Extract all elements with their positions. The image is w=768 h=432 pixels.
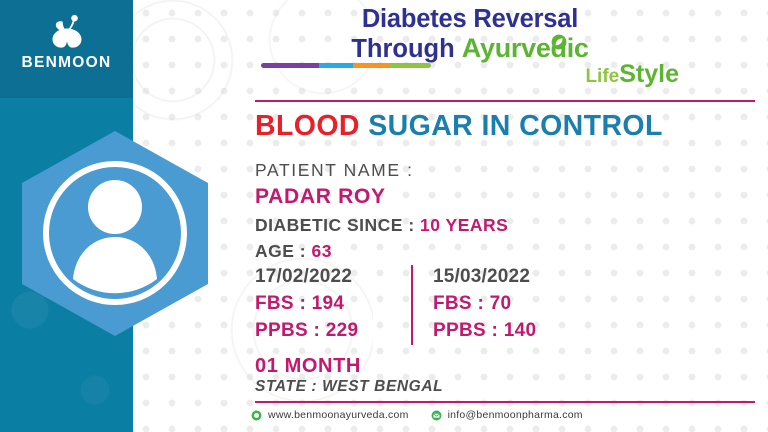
reading-date: 17/02/2022 [255,263,358,291]
reading-fbs: FBS : 70 [433,291,536,318]
reading-fbs: FBS : 194 [255,291,358,318]
divider-bottom [255,401,755,403]
age-value: 63 [311,241,331,261]
reading-ppbs: PPBS : 140 [433,318,536,345]
patient-name-value: PADAR ROY [255,183,508,211]
reading-ppbs: PPBS : 229 [255,318,358,345]
brand-lockup: BENMOON [0,14,133,72]
email-text: info@benmoonpharma.com [448,409,583,421]
age-row: AGE : 63 [255,238,508,264]
patient-name-label: PATIENT NAME : [255,158,508,183]
title-line-2: Through Ayurvedic [255,34,685,63]
plant-leaf-logo-icon [46,14,88,50]
diabetic-since-label: DIABETIC SINCE : [255,215,420,235]
promo-card: BENMOON Diabetes Reversal Through Ayurve… [0,0,768,432]
website-text: www.benmoonayurveda.com [268,409,409,421]
email-item[interactable]: info@benmoonpharma.com [431,409,583,421]
reading-column-before: 17/02/2022 FBS : 194 PPBS : 229 [255,263,358,344]
title-life: Life [585,66,619,87]
diabetic-since-value: 10 YEARS [420,215,508,235]
title-ayurvedic: Ayurvedic [462,33,589,63]
heading-blood: BLOOD [255,110,360,142]
title-line-1: Diabetes Reversal [255,6,685,33]
reading-column-after: 15/03/2022 FBS : 70 PPBS : 140 [433,263,536,344]
state-label: STATE : WEST BENGAL [255,378,443,396]
diabetic-since-row: DIABETIC SINCE : 10 YEARS [255,212,508,238]
patient-details: PATIENT NAME : PADAR ROY DIABETIC SINCE … [255,158,508,264]
reading-date: 15/03/2022 [433,263,536,291]
title-style: Style [619,60,679,88]
brand-name: BENMOON [0,54,133,72]
age-label: AGE : [255,241,311,261]
globe-icon [251,410,262,421]
envelope-icon [431,410,442,421]
website-item[interactable]: www.benmoonayurveda.com [251,409,409,421]
heading-sugar-in-control: SUGAR IN CONTROL [360,110,663,142]
leaf-icon [551,34,567,50]
readings-divider [411,265,413,345]
page-title: BLOOD SUGAR IN CONTROL [255,110,765,143]
content-area: Diabetes Reversal Through Ayurvedic Life… [133,0,768,432]
campaign-title: Diabetes Reversal Through Ayurvedic Life… [255,6,685,89]
title-through: Through [351,35,461,63]
title-colorbar [261,63,431,68]
divider-top [255,100,755,102]
footer-contact: www.benmoonayurveda.com info@benmoonphar… [251,409,583,421]
duration-badge: 01 MONTH [255,355,361,378]
